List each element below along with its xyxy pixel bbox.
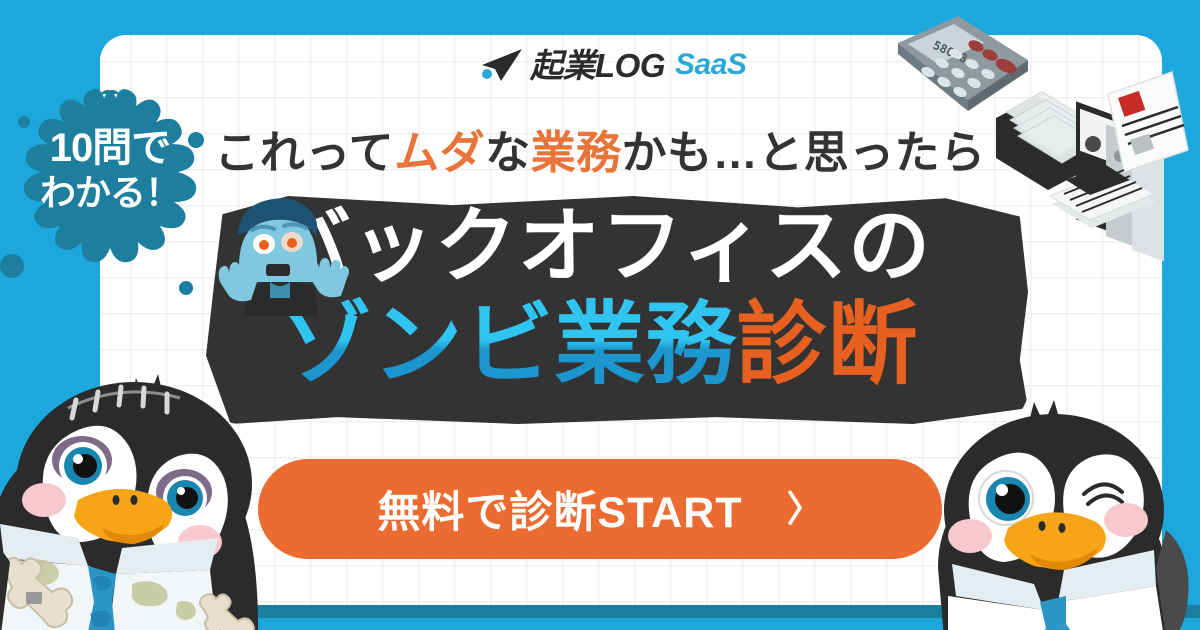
splat-badge-label: 10問で わかる！ bbox=[0, 125, 230, 215]
chevron-right-icon: 〉 bbox=[787, 491, 823, 527]
title-line-2-orange: 診断 bbox=[737, 295, 919, 395]
paper-plane-icon bbox=[478, 48, 524, 82]
cta-label: 無料で診断START bbox=[377, 478, 742, 540]
headline-part-3: かも…と思ったら bbox=[622, 127, 986, 178]
headline-emphasis-2: 業務 bbox=[531, 127, 622, 178]
headline-part-2: な bbox=[485, 127, 531, 178]
zombie-man-illustration bbox=[214, 186, 354, 316]
brand-logo[interactable]: 起業LOG SaaS bbox=[478, 48, 746, 82]
happy-penguin-illustration bbox=[908, 388, 1200, 630]
start-diagnosis-button[interactable]: 無料で診断START 〉 bbox=[258, 459, 942, 559]
zombie-penguin-illustration bbox=[0, 352, 302, 630]
calculator-icon: 58008 bbox=[898, 16, 1028, 111]
badge-line-1: 10問で bbox=[0, 125, 230, 172]
logo-suffix: SaaS bbox=[675, 50, 746, 80]
headline-part-1: これって bbox=[214, 127, 394, 178]
headline-emphasis-1: ムダ bbox=[394, 127, 485, 178]
badge-line-2: わかる！ bbox=[0, 172, 230, 214]
promo-banner: 58008 bbox=[0, 0, 1200, 630]
logo-text: 起業LOG bbox=[530, 49, 665, 82]
